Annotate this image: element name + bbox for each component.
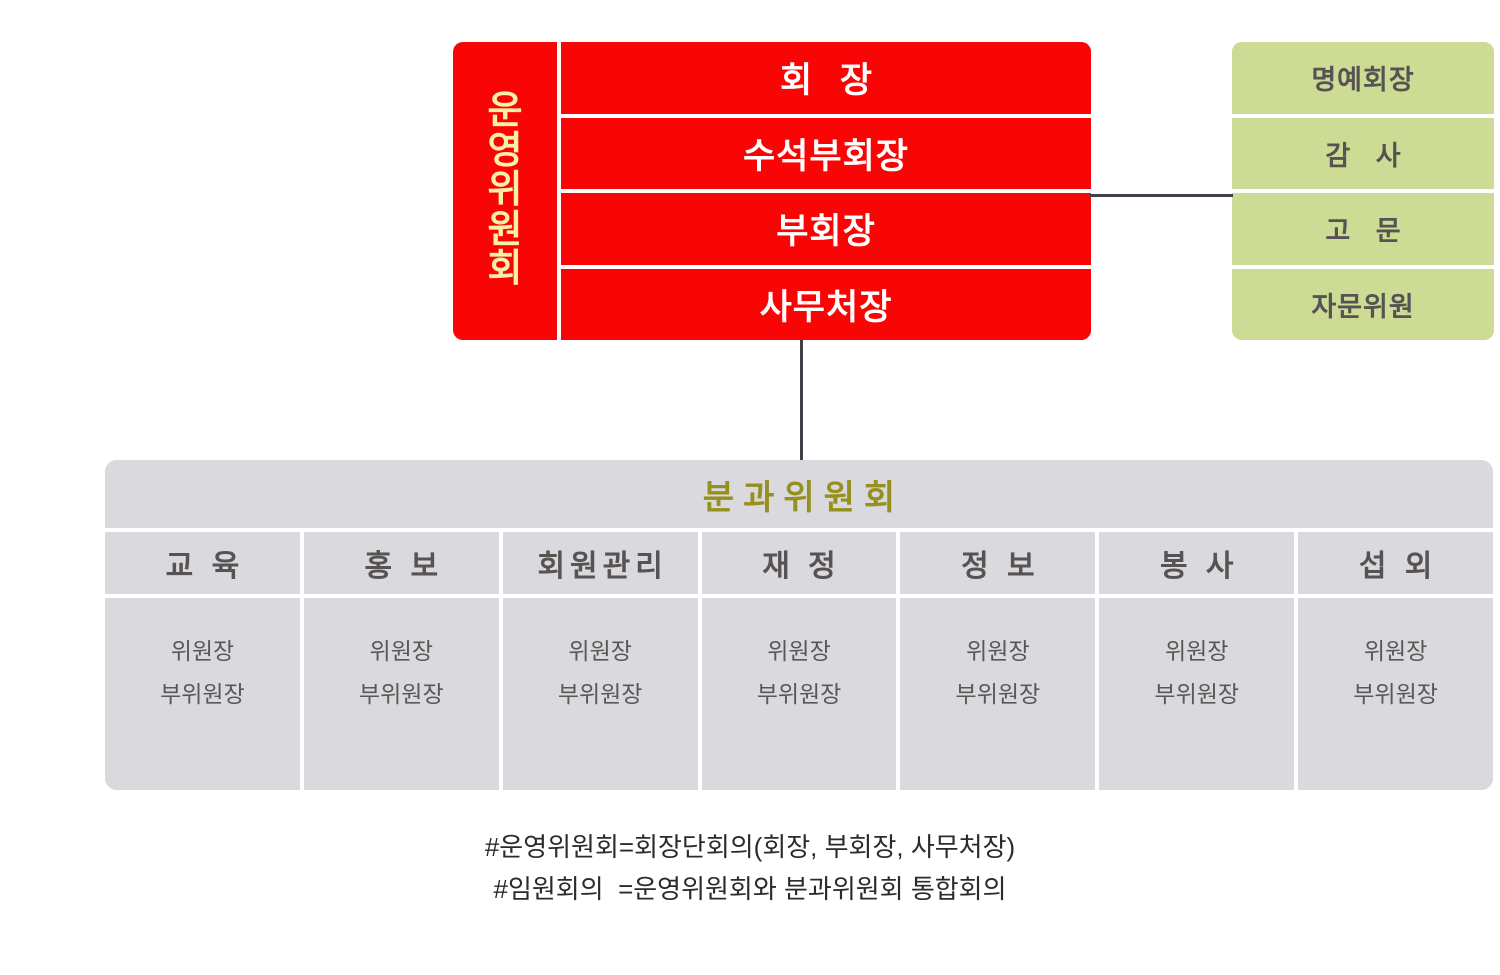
role-chair: 위원장: [1165, 630, 1228, 673]
role-chair: 위원장: [370, 630, 433, 673]
subcommittee-header-row: 교 육 홍 보 회원관리 재 정 정 보 봉 사 섭 외: [105, 528, 1493, 594]
subcommittee-cell-publicity: 위원장 부위원장: [304, 598, 503, 790]
footnotes: #운영위원회=회장단회의(회장, 부회장, 사무처장) #임원회의 =운영위원회…: [0, 826, 1500, 910]
subcommittee-header-membership: 회원관리: [503, 532, 702, 594]
exec-role-secretary-general: 사무처장: [561, 269, 1091, 341]
exec-role-senior-vice-president: 수석부회장: [561, 118, 1091, 194]
vertical-label-char-0: 운: [488, 92, 523, 132]
vertical-label-char-2: 위: [488, 171, 523, 211]
exec-role-vice-president: 부회장: [561, 193, 1091, 269]
subcommittee-header-information: 정 보: [900, 532, 1099, 594]
role-chair: 위원장: [767, 630, 830, 673]
role-vice-chair: 부위원장: [558, 673, 643, 716]
advisory-item-auditor: 감 사: [1232, 118, 1494, 194]
subcommittee-header-service: 봉 사: [1099, 532, 1298, 594]
vertical-label-char-1: 영: [488, 132, 523, 172]
subcommittee-header-education: 교 육: [105, 532, 304, 594]
role-vice-chair: 부위원장: [1353, 673, 1438, 716]
subcommittee-body-row: 위원장 부위원장 위원장 부위원장 위원장 부위원장 위원장 부위원장 위원장 …: [105, 594, 1493, 790]
executive-role-list: 회 장 수석부회장 부회장 사무처장: [561, 42, 1091, 340]
advisory-positions-panel: 명예회장 감 사 고 문 자문위원: [1232, 42, 1494, 340]
role-chair: 위원장: [568, 630, 631, 673]
subcommittee-header-publicity: 홍 보: [304, 532, 503, 594]
advisory-item-advisory-member: 자문위원: [1232, 269, 1494, 341]
role-vice-chair: 부위원장: [757, 673, 842, 716]
subcommittee-cell-service: 위원장 부위원장: [1099, 598, 1298, 790]
role-vice-chair: 부위원장: [160, 673, 245, 716]
subcommittee-panel: 분과위원회 교 육 홍 보 회원관리 재 정 정 보 봉 사 섭 외 위원장 부…: [105, 460, 1493, 790]
executive-committee-vertical-label: 운 영 위 원 회: [453, 42, 557, 340]
connector-line-exec-to-subcommittee: [800, 340, 803, 460]
role-chair: 위원장: [171, 630, 234, 673]
role-chair: 위원장: [1364, 630, 1427, 673]
role-vice-chair: 부위원장: [1154, 673, 1239, 716]
subcommittee-header-liaison: 섭 외: [1298, 532, 1493, 594]
subcommittee-cell-information: 위원장 부위원장: [900, 598, 1099, 790]
subcommittee-cell-education: 위원장 부위원장: [105, 598, 304, 790]
subcommittee-panel-title: 분과위원회: [105, 460, 1493, 528]
vertical-label-char-4: 회: [488, 250, 523, 290]
executive-committee-panel: 운 영 위 원 회 회 장 수석부회장 부회장 사무처장: [453, 42, 1091, 340]
role-vice-chair: 부위원장: [359, 673, 444, 716]
subcommittee-cell-liaison: 위원장 부위원장: [1298, 598, 1493, 790]
footnote-operating-committee: #운영위원회=회장단회의(회장, 부회장, 사무처장): [0, 826, 1500, 868]
vertical-label-char-3: 원: [488, 211, 523, 251]
advisory-item-honorary-president: 명예회장: [1232, 42, 1494, 118]
subcommittee-cell-membership: 위원장 부위원장: [503, 598, 702, 790]
role-chair: 위원장: [966, 630, 1029, 673]
subcommittee-cell-finance: 위원장 부위원장: [702, 598, 901, 790]
advisory-item-advisor: 고 문: [1232, 193, 1494, 269]
role-vice-chair: 부위원장: [956, 673, 1041, 716]
exec-role-president: 회 장: [561, 42, 1091, 118]
connector-line-exec-to-advisory: [1090, 194, 1233, 197]
subcommittee-header-finance: 재 정: [702, 532, 901, 594]
footnote-officers-meeting: #임원회의 =운영위원회와 분과위원회 통합회의: [0, 868, 1500, 910]
